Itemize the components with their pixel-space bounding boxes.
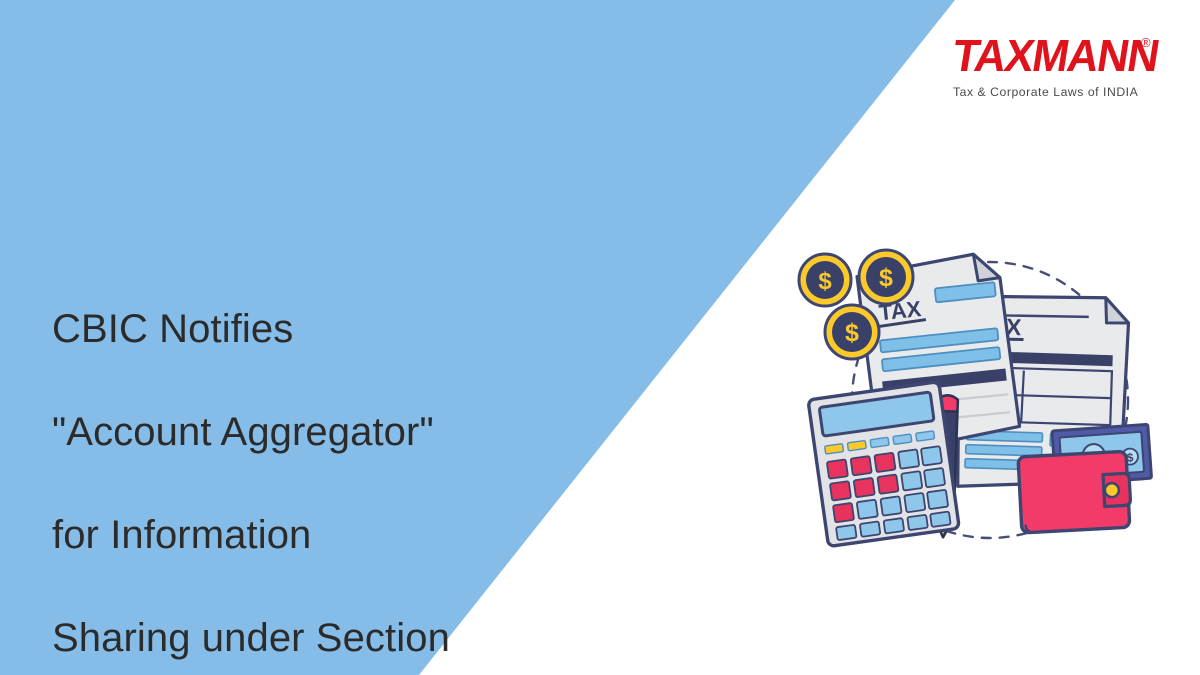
- headline-line-3: for Information: [52, 510, 572, 562]
- logo-wordmark: TAXMANN: [949, 33, 1150, 79]
- svg-text:$: $: [845, 319, 859, 347]
- taxmann-logo[interactable]: TAXMANN ® Tax & Corporate Laws of INDIA: [953, 33, 1153, 103]
- dollar-coin-3: $: [825, 305, 879, 359]
- page-title: CBIC Notifies "Account Aggregator" for I…: [52, 252, 572, 675]
- dollar-coin-1: $: [799, 254, 851, 306]
- logo-tagline: Tax & Corporate Laws of INDIA: [953, 85, 1153, 99]
- tax-documents-illustration: TAX: [790, 235, 1170, 565]
- svg-text:$: $: [818, 268, 832, 295]
- calculator: [808, 382, 959, 547]
- registered-trademark-icon: ®: [1141, 35, 1151, 50]
- dollar-coin-2: $: [859, 250, 913, 304]
- calculator-keypad: [827, 446, 951, 540]
- headline-line-1: CBIC Notifies: [52, 304, 572, 356]
- svg-text:$: $: [879, 264, 893, 292]
- headline-line-4: Sharing under Section: [52, 613, 572, 665]
- headline-line-2: "Account Aggregator": [52, 407, 572, 459]
- wallet: [1018, 451, 1132, 533]
- slide-canvas: CBIC Notifies "Account Aggregator" for I…: [0, 0, 1200, 675]
